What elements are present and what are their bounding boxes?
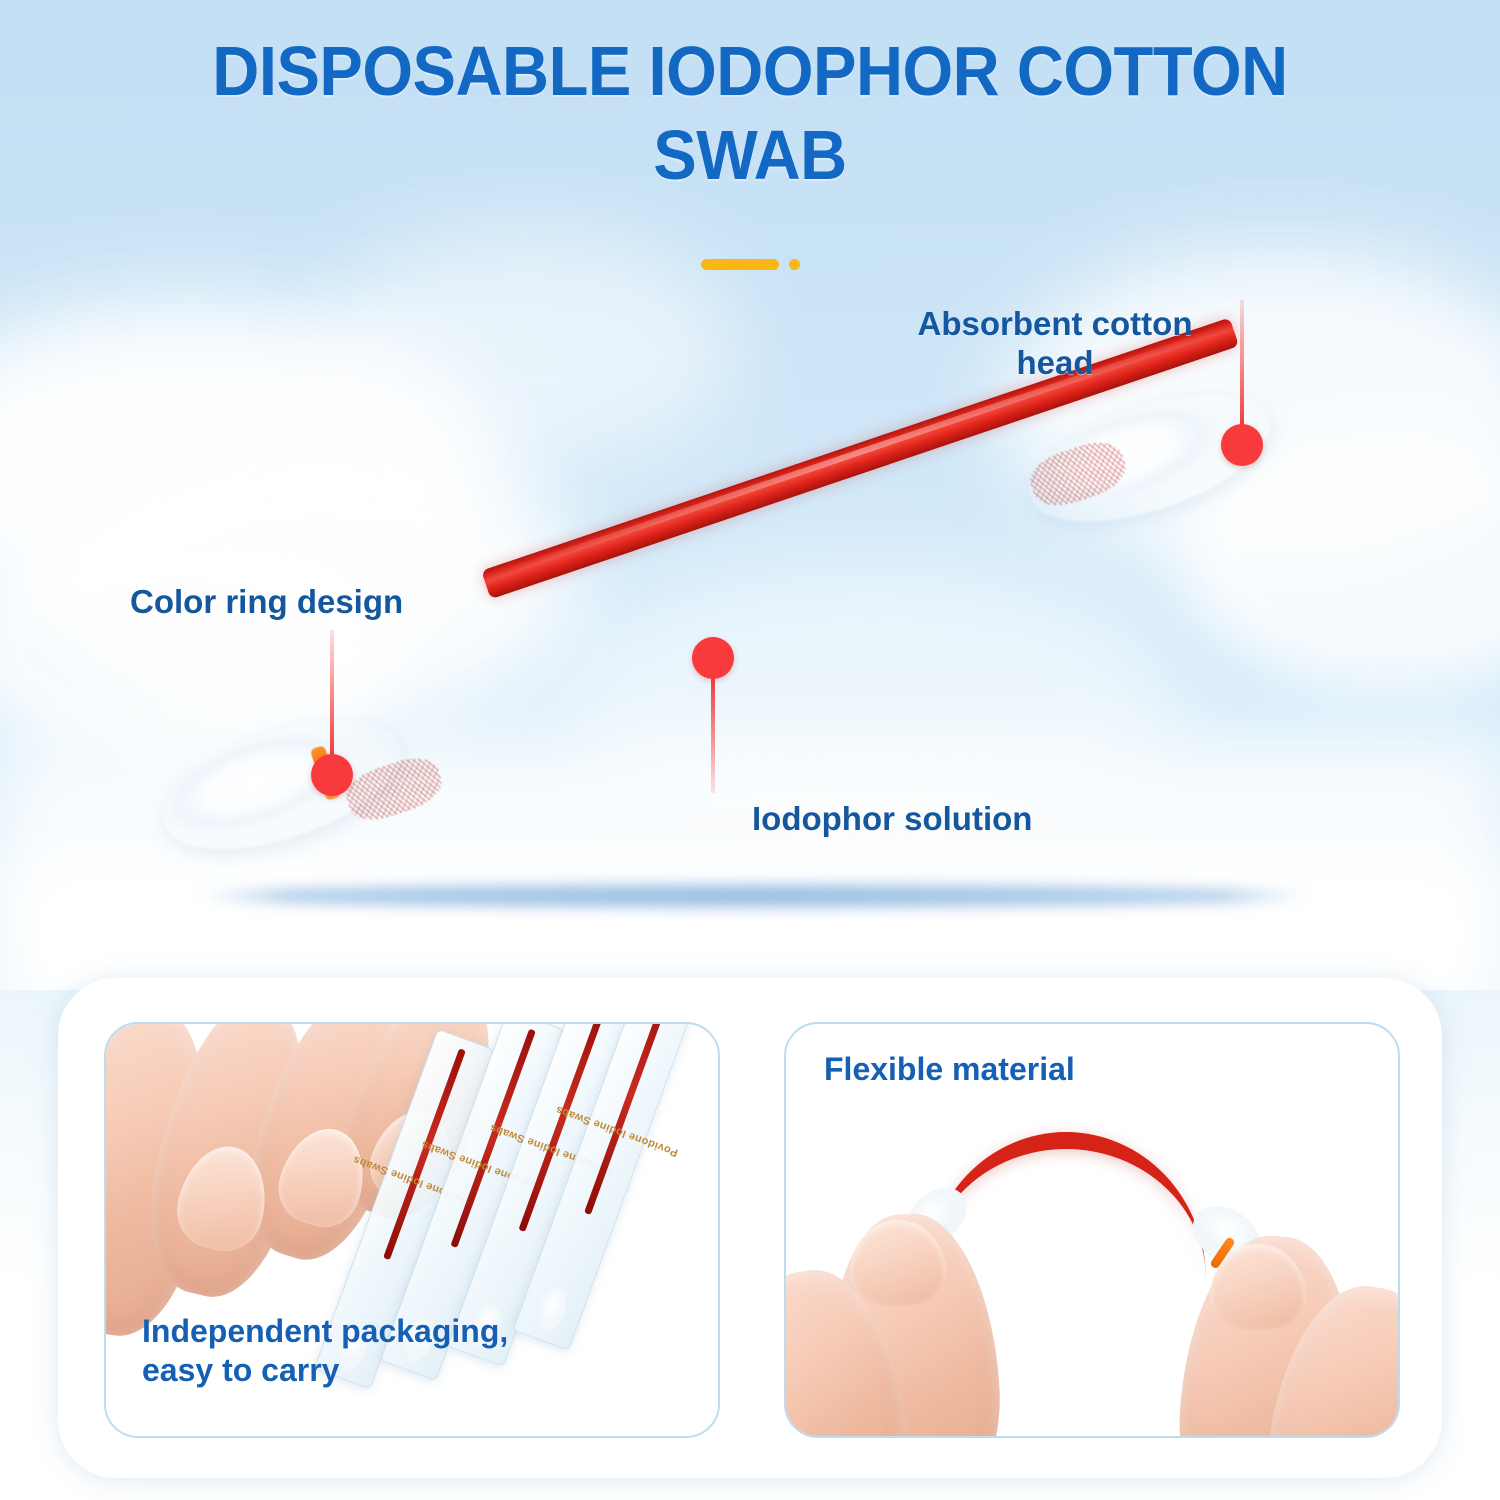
callout-label-line-1: Absorbent cotton <box>918 305 1193 342</box>
leader-line-color-ring <box>330 630 334 758</box>
leader-dot-color-ring <box>311 754 353 796</box>
panel-independent-packaging: Povidone Iodine Swabs Povidone Iodine Sw… <box>104 1022 720 1438</box>
panel-flexible-material: Flexible material <box>784 1022 1400 1438</box>
panel-label-independent-packaging: Independent packaging, easy to carry <box>142 1312 572 1390</box>
callout-color-ring-design: Color ring design <box>130 583 490 622</box>
divider-dot <box>789 259 800 270</box>
panel-label-line-1: Independent packaging, <box>142 1313 508 1349</box>
leader-dot-iodophor <box>692 637 734 679</box>
bottom-feature-card: Povidone Iodine Swabs Povidone Iodine Sw… <box>58 978 1442 1478</box>
title-line-1: DISPOSABLE IODOPHOR COTTON <box>212 32 1287 110</box>
leader-line-absorbent <box>1240 300 1244 428</box>
panel-label-line-1: Flexible material <box>824 1051 1075 1087</box>
callout-label-line-2: head <box>1016 344 1093 381</box>
callout-label-line-1: Iodophor solution <box>752 800 1032 837</box>
leader-dot-absorbent <box>1221 424 1263 466</box>
callout-label-line-1: Color ring design <box>130 583 403 620</box>
bent-swab-rod <box>926 1132 1206 1279</box>
divider-bar <box>701 259 779 270</box>
product-shadow <box>195 885 1315 907</box>
title-line-2: SWAB <box>53 120 1448 190</box>
leader-line-iodophor <box>711 675 715 793</box>
page-title: DISPOSABLE IODOPHOR COTTON SWAB <box>53 36 1448 190</box>
panel-label-line-2: easy to carry <box>142 1352 339 1388</box>
callout-absorbent-cotton-head: Absorbent cotton head <box>880 305 1230 383</box>
panel-label-flexible-material: Flexible material <box>824 1050 1244 1089</box>
callout-iodophor-solution: Iodophor solution <box>752 800 1152 839</box>
title-divider <box>0 254 1500 274</box>
infographic-canvas: DISPOSABLE IODOPHOR COTTON SWAB Absorben… <box>0 0 1500 1500</box>
